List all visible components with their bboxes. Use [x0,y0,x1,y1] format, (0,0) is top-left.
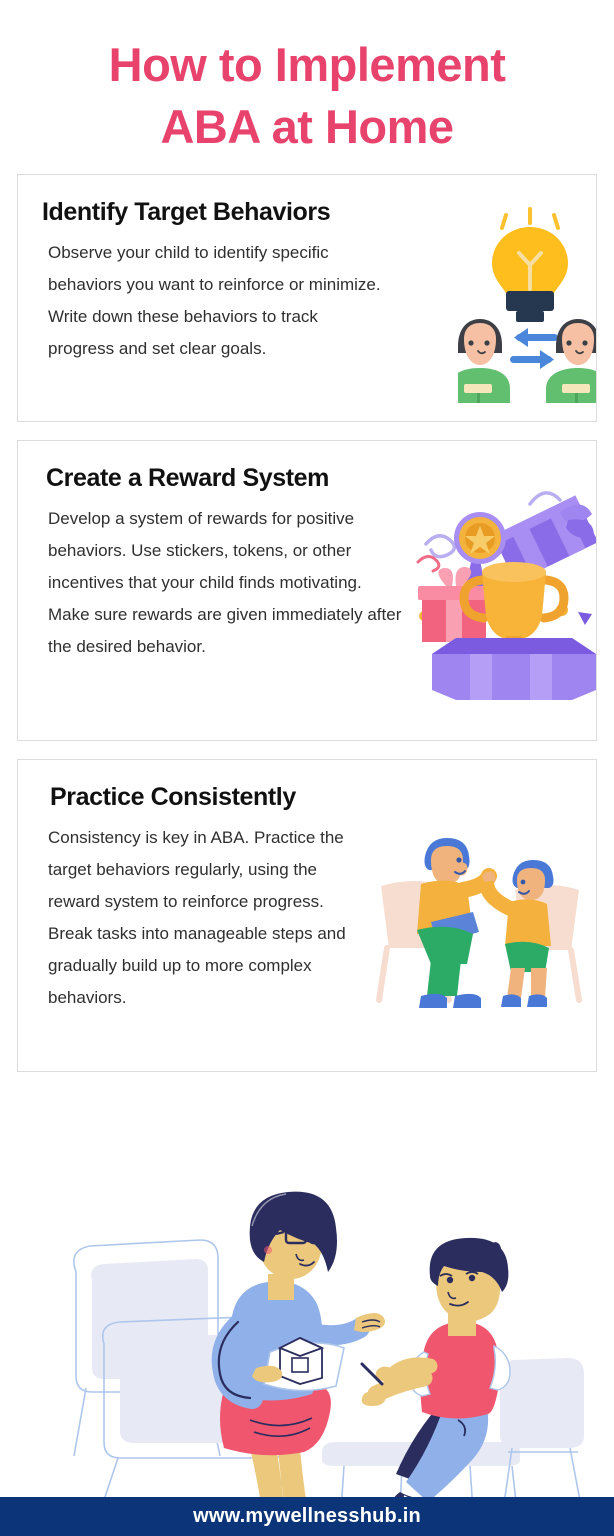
steps-list: Identify Target Behaviors Observe your c… [0,174,614,1072]
step-card-heading: Practice Consistently [18,782,596,812]
step-card-identify-target-behaviors: Identify Target Behaviors Observe your c… [17,174,597,422]
step-card-body: Consistency is key in ABA. Practice the … [18,822,368,1014]
step-card-body: Develop a system of rewards for positive… [18,503,413,663]
step-card-heading: Create a Reward System [18,463,596,493]
infographic-page: How to Implement ABA at Home Identify Ta… [0,0,614,1536]
step-card-practice-consistently: Practice Consistently Consistency is key… [17,759,597,1072]
footer-bar: www.mywellnesshub.in [0,1497,614,1536]
lightbulb-two-people-icon [458,203,597,403]
page-title-line-1: How to Implement [22,34,592,96]
footer-website-url[interactable]: www.mywellnesshub.in [193,1505,421,1528]
page-title: How to Implement ABA at Home [0,0,614,158]
adult-child-high-five-icon [373,818,588,1018]
step-card-heading: Identify Target Behaviors [18,197,596,227]
therapist-and-child-illustration [0,1152,614,1497]
step-card-create-a-reward-system: Create a Reward System Develop a system … [17,440,597,741]
page-title-line-2: ABA at Home [22,96,592,158]
trophy-gift-box-icon [410,476,597,701]
step-card-body: Observe your child to identify specific … [18,237,393,365]
therapist-and-child-at-table-illustration [0,1152,614,1497]
